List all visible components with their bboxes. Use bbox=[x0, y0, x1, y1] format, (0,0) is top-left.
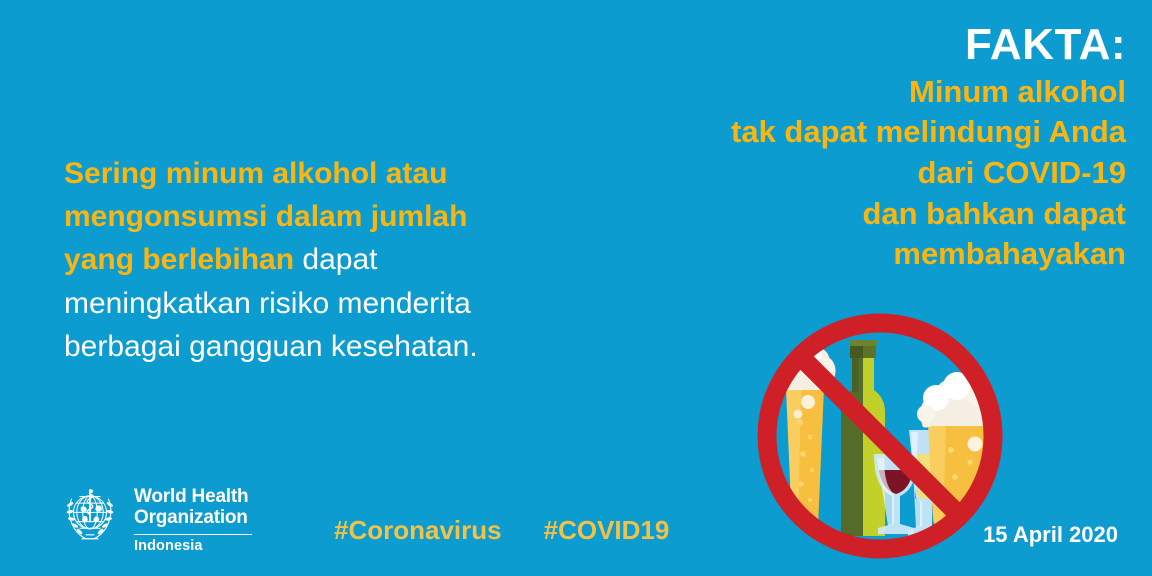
who-line-1: World Health bbox=[134, 486, 252, 507]
body-plain-tail: dapat bbox=[294, 243, 377, 276]
body-line-5: berbagai gangguan kesehatan. bbox=[64, 325, 624, 368]
headline-line-5: membahayakan bbox=[606, 234, 1126, 275]
body-line-3: yang berlebihan dapat bbox=[64, 238, 624, 281]
body-line-1: Sering minum alkohol atau bbox=[64, 152, 624, 195]
fakta-label: FAKTA: bbox=[606, 22, 1126, 68]
hashtag-coronavirus[interactable]: #Coronavirus bbox=[334, 515, 502, 546]
headline-line-4: dan bahkan dapat bbox=[606, 194, 1126, 235]
no-alcohol-sign-icon bbox=[746, 302, 1014, 570]
body-copy: Sering minum alkohol atau mengonsumsi da… bbox=[64, 152, 624, 368]
headline-line-1: Minum alkohol bbox=[606, 72, 1126, 113]
who-emblem-icon bbox=[57, 482, 123, 548]
body-emphasis-1: Sering minum alkohol atau bbox=[64, 157, 447, 190]
hashtag-covid19[interactable]: #COVID19 bbox=[544, 515, 670, 546]
body-line-4: meningkatkan risiko menderita bbox=[64, 282, 624, 325]
who-line-2: Organization bbox=[134, 507, 252, 528]
who-divider bbox=[134, 534, 252, 536]
body-emphasis-2: mengonsumsi dalam jumlah bbox=[64, 200, 467, 233]
no-alcohol-illustration bbox=[746, 302, 1014, 570]
who-wordmark: World Health Organization Indonesia bbox=[134, 482, 252, 554]
who-covid-infographic: FAKTA: Minum alkohol tak dapat melindung… bbox=[0, 0, 1152, 576]
hashtag-group: #Coronavirus #COVID19 bbox=[334, 515, 669, 546]
body-line-2: mengonsumsi dalam jumlah bbox=[64, 195, 624, 238]
who-logo: World Health Organization Indonesia bbox=[57, 482, 252, 554]
body-emphasis-3: yang berlebihan bbox=[64, 243, 294, 276]
headline-line-2: tak dapat melindungi Anda bbox=[606, 112, 1126, 153]
headline-text: Minum alkohol tak dapat melindungi Anda … bbox=[606, 72, 1126, 275]
headline-block: FAKTA: Minum alkohol tak dapat melindung… bbox=[606, 22, 1126, 275]
headline-line-3: dari COVID-19 bbox=[606, 153, 1126, 194]
who-country-label: Indonesia bbox=[134, 538, 252, 554]
